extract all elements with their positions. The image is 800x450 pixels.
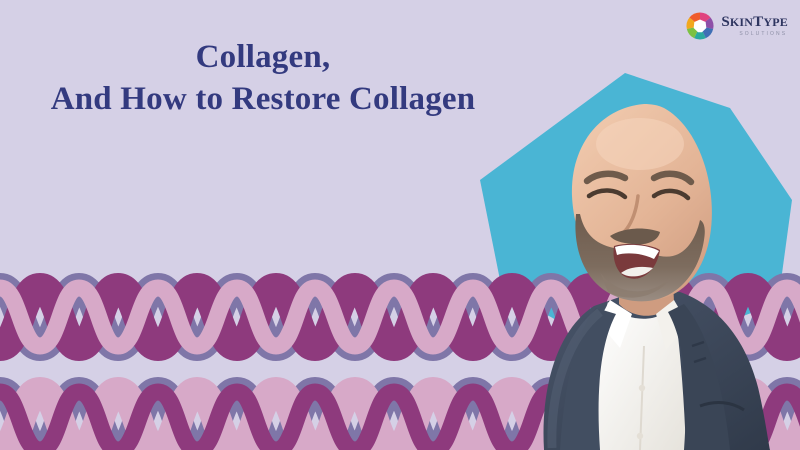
forehead-highlight (596, 118, 684, 170)
page-title: Collagen, And How to Restore Collagen (18, 36, 508, 120)
logo-wordmark: SKINTYPE (721, 15, 788, 30)
shirt-button (637, 433, 643, 439)
logo-word-ype: YPE (763, 15, 788, 29)
collagen-banner: Collagen, And How to Restore Collagen (0, 0, 800, 450)
shirt-button (639, 385, 645, 391)
brand-logo[interactable]: SKINTYPE SOLUTIONS (685, 11, 788, 41)
headline-line-2: And How to Restore Collagen (18, 78, 508, 120)
logo-tagline: SOLUTIONS (739, 32, 787, 37)
smiling-man-photo (448, 96, 800, 450)
logo-word-s: S (721, 14, 730, 30)
logo-word-kin: KIN (730, 15, 753, 29)
headline-line-1: Collagen, (18, 36, 508, 78)
skintype-solutions-pinwheel-icon (685, 11, 715, 41)
logo-text-block: SKINTYPE SOLUTIONS (721, 15, 788, 37)
logo-word-t: T (753, 14, 763, 30)
